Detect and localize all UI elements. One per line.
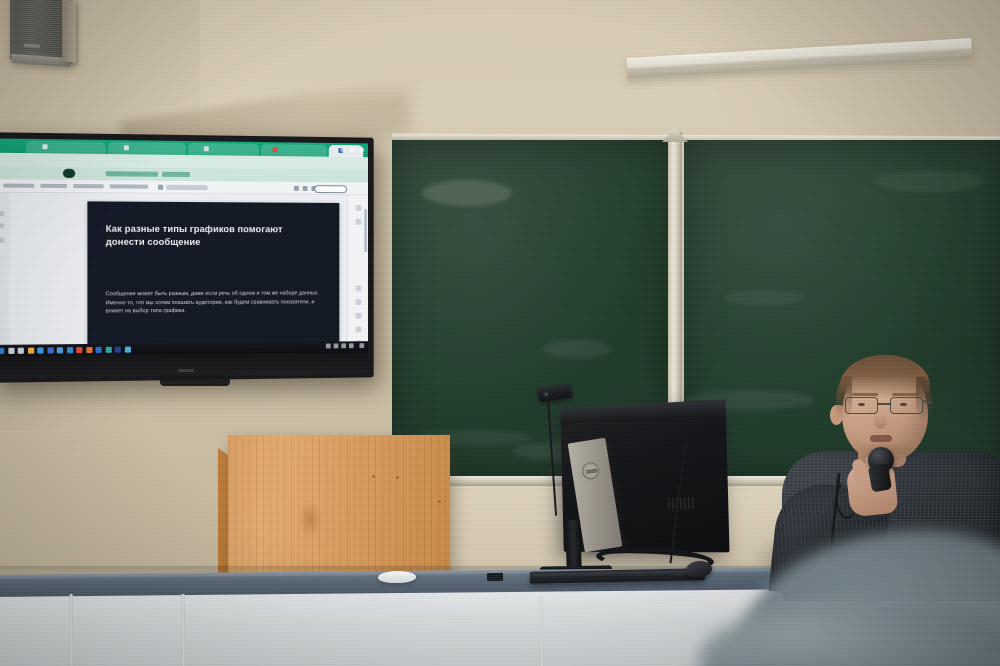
- browser-tab[interactable]: [261, 144, 327, 157]
- rail-icon[interactable]: [356, 285, 362, 291]
- explorer-icon[interactable]: [27, 347, 33, 353]
- app-orange-icon[interactable]: [86, 346, 92, 352]
- keyboard-keys: [532, 570, 703, 578]
- display-screen[interactable]: Как разные типы графиков помогают донест…: [0, 138, 368, 356]
- eyeglass-lens-right: [890, 397, 923, 414]
- bookmark-item[interactable]: [106, 171, 158, 177]
- chat-icon[interactable]: [67, 347, 73, 353]
- tab-favicon: [124, 145, 129, 150]
- window-controls[interactable]: [340, 147, 364, 152]
- rail-icon[interactable]: [0, 223, 4, 228]
- tray-network-icon[interactable]: [341, 343, 346, 348]
- slide-title: Как разные типы графиков помогают донест…: [106, 222, 317, 248]
- webcam-lens-icon: [543, 391, 550, 398]
- site-nav-item[interactable]: [40, 184, 67, 188]
- wooden-lectern: [228, 435, 450, 575]
- rail-icon[interactable]: [356, 327, 362, 333]
- rail-icon[interactable]: [356, 219, 362, 225]
- lectern-wood-knot: [298, 501, 322, 537]
- minimize-icon[interactable]: [340, 147, 345, 152]
- bookmark-pill-button[interactable]: [63, 169, 75, 178]
- page-scrollbar[interactable]: [364, 209, 367, 252]
- tab-favicon: [42, 144, 47, 149]
- site-search-field[interactable]: [166, 185, 208, 190]
- app-blue-icon[interactable]: [96, 346, 102, 352]
- site-zoom-icon[interactable]: [294, 186, 299, 191]
- black-remote: [487, 573, 503, 581]
- start-icon[interactable]: [0, 347, 4, 353]
- speaker-mount-bracket: [62, 0, 76, 63]
- person-nose: [874, 413, 887, 429]
- eyeglass-lens-left: [845, 397, 878, 414]
- maximize-icon[interactable]: [350, 147, 355, 152]
- tray-pen-icon[interactable]: [326, 344, 331, 349]
- chalk-smudge: [724, 290, 804, 306]
- search-icon[interactable]: [8, 347, 14, 353]
- tray-notification-icon[interactable]: [359, 343, 364, 348]
- monitor-port-vent: [668, 497, 694, 510]
- tab-favicon: [204, 146, 209, 151]
- microphone-cable-loop: [836, 479, 858, 519]
- chalk-smudge: [542, 340, 612, 358]
- app-navy-icon[interactable]: [115, 346, 121, 352]
- tray-volume-icon[interactable]: [349, 343, 354, 348]
- taskview-icon[interactable]: [18, 347, 24, 353]
- bookmark-item[interactable]: [162, 172, 190, 177]
- right-rail[interactable]: [347, 195, 368, 356]
- site-nav-item[interactable]: [73, 184, 104, 188]
- mail-icon[interactable]: [47, 347, 53, 353]
- app-teal-icon[interactable]: [105, 346, 111, 352]
- browser-tab[interactable]: [188, 143, 259, 156]
- site-action-button[interactable]: [314, 185, 347, 193]
- browser-tab[interactable]: [108, 142, 186, 155]
- lectern-screw: [396, 476, 399, 479]
- dell-logo-icon: [581, 461, 600, 480]
- tray-chevron-icon[interactable]: [334, 343, 339, 348]
- chalk-smudge: [422, 180, 512, 206]
- close-icon[interactable]: [359, 147, 364, 152]
- site-nav-item[interactable]: [110, 184, 148, 188]
- lecture-hall-photo: Как разные типы графиков помогают донест…: [0, 0, 1000, 666]
- display-wall-mount: [160, 372, 230, 386]
- rail-icon[interactable]: [0, 211, 4, 216]
- lectern-screw: [438, 500, 441, 503]
- page-content: Как разные типы графиков помогают донест…: [0, 193, 368, 357]
- tab-favicon: [273, 147, 278, 152]
- browser-icon[interactable]: [37, 347, 43, 353]
- lectern-screw: [372, 475, 375, 478]
- left-rail[interactable]: [0, 193, 9, 357]
- store-icon[interactable]: [57, 347, 63, 353]
- speaker-grille: [14, 0, 68, 54]
- app-red-icon[interactable]: [76, 347, 82, 353]
- eyeglass-bridge: [878, 403, 890, 405]
- person-eyebrow-right: [892, 393, 918, 396]
- rail-icon[interactable]: [0, 238, 4, 243]
- lectern-wood-grain: [228, 435, 450, 575]
- site-nav-item[interactable]: [3, 183, 34, 187]
- system-tray[interactable]: [326, 343, 364, 348]
- browser-tab[interactable]: [26, 141, 106, 154]
- chalk-smudge: [874, 170, 984, 192]
- slide-body-text: Сообщение может быть разным, даже если р…: [106, 289, 324, 316]
- site-search-icon[interactable]: [158, 185, 163, 190]
- microphone-body: [868, 463, 892, 492]
- wall-mounted-display[interactable]: Как разные типы графиков помогают донест…: [0, 132, 374, 383]
- rail-icon[interactable]: [356, 299, 362, 305]
- person-eyebrow-left: [852, 393, 878, 396]
- rail-icon[interactable]: [356, 313, 362, 319]
- app-search-icon[interactable]: [124, 346, 130, 352]
- presentation-slide: Как разные типы графиков помогают донест…: [87, 201, 339, 356]
- rail-icon[interactable]: [356, 205, 362, 211]
- site-share-icon[interactable]: [303, 186, 308, 191]
